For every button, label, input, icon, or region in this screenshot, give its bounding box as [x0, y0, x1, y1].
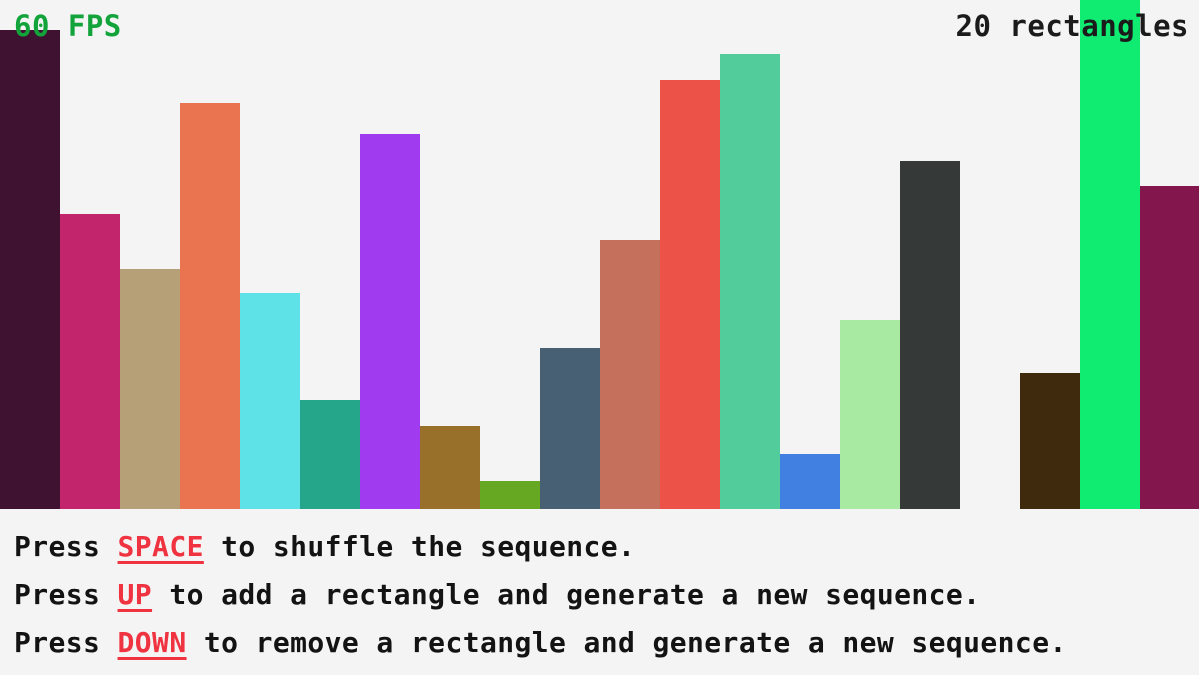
- bar-chart: [0, 0, 1199, 509]
- bar-10: [540, 348, 600, 509]
- rectangle-count-label: 20 rectangles: [956, 12, 1189, 41]
- bar-11: [600, 240, 660, 509]
- key-up[interactable]: UP: [118, 578, 153, 611]
- bar-9: [480, 481, 540, 509]
- bar-8: [420, 426, 480, 509]
- bar-20: [1140, 186, 1199, 509]
- bar-5: [240, 293, 300, 509]
- bar-4: [180, 103, 240, 509]
- bar-7: [360, 134, 420, 509]
- fps-counter: 60 FPS: [14, 12, 122, 41]
- instruction-line-2: Press UP to add a rectangle and generate…: [14, 571, 1199, 619]
- instruction-prefix: Press: [14, 626, 118, 659]
- instruction-suffix: to remove a rectangle and generate a new…: [187, 626, 1067, 659]
- instructions-panel: Press SPACE to shuffle the sequence.Pres…: [0, 509, 1199, 675]
- bar-3: [120, 269, 180, 509]
- key-space[interactable]: SPACE: [118, 530, 204, 563]
- bar-6: [300, 400, 360, 509]
- instruction-prefix: Press: [14, 530, 118, 563]
- bar-18: [1020, 373, 1080, 509]
- instruction-line-1: Press SPACE to shuffle the sequence.: [14, 523, 1199, 571]
- bar-1: [0, 30, 60, 509]
- bar-19: [1080, 0, 1140, 509]
- key-down[interactable]: DOWN: [118, 626, 187, 659]
- rectangle-sequence-app: 60 FPS 20 rectangles Press SPACE to shuf…: [0, 0, 1199, 675]
- instruction-suffix: to shuffle the sequence.: [204, 530, 635, 563]
- instruction-line-3: Press DOWN to remove a rectangle and gen…: [14, 619, 1199, 667]
- bar-16: [900, 161, 960, 509]
- instruction-prefix: Press: [14, 578, 118, 611]
- bar-12: [660, 80, 720, 509]
- bar-13: [720, 54, 780, 509]
- instruction-suffix: to add a rectangle and generate a new se…: [152, 578, 980, 611]
- bar-15: [840, 320, 900, 509]
- bar-14: [780, 454, 840, 509]
- bar-2: [60, 214, 120, 509]
